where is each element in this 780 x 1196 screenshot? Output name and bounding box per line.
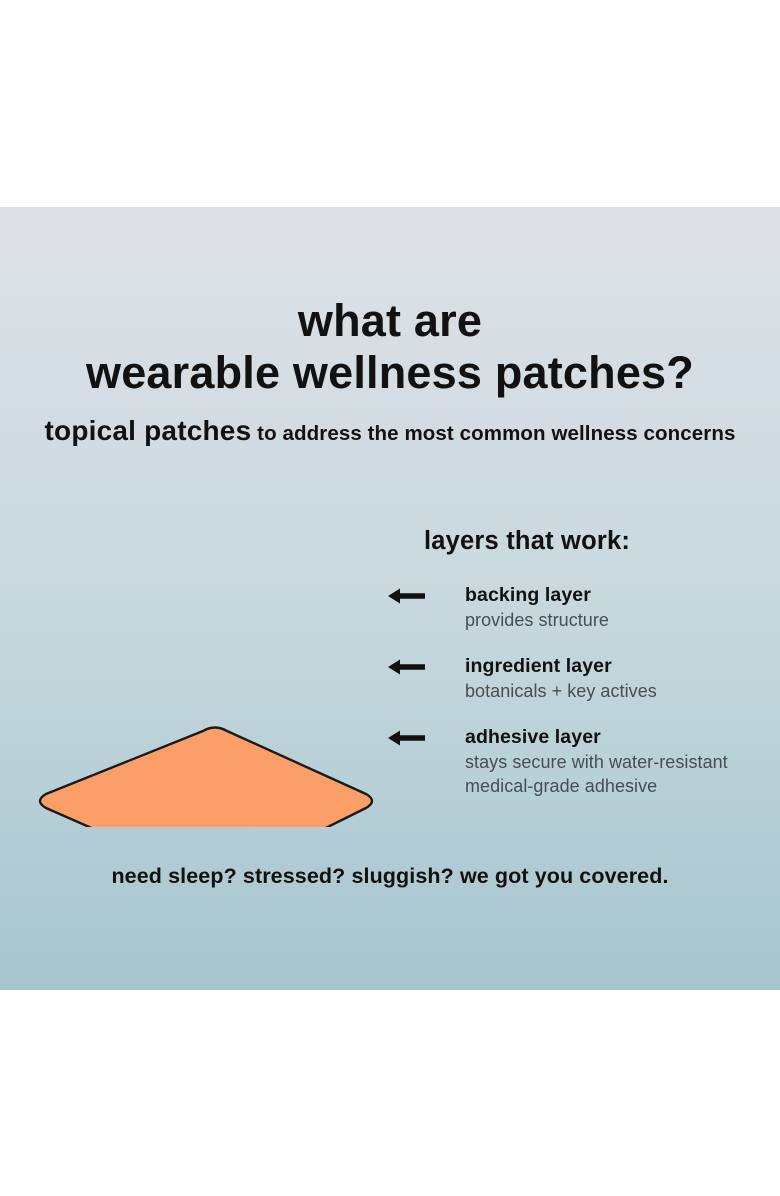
subtitle: topical patches to address the most comm… bbox=[0, 415, 780, 447]
layer-title-backing: backing layer bbox=[465, 583, 766, 607]
layers-list: layers that work: backing layer provides… bbox=[421, 527, 766, 798]
subtitle-strong: topical patches bbox=[45, 415, 252, 446]
layer-desc-adhesive-line-1: stays secure with water-resistant bbox=[465, 750, 766, 774]
gradient-panel: what are wearable wellness patches? topi… bbox=[0, 207, 780, 990]
backing-layer-shape bbox=[40, 728, 372, 828]
layer-desc-backing: provides structure bbox=[465, 608, 766, 632]
layer-desc-adhesive: stays secure with water-resistant medica… bbox=[465, 750, 766, 798]
layer-desc-ingredient-line-1: botanicals + key actives bbox=[465, 679, 766, 703]
layer-item-backing: backing layer provides structure bbox=[421, 583, 766, 632]
infographic-root: what are wearable wellness patches? topi… bbox=[0, 0, 780, 1196]
layer-item-ingredient: ingredient layer botanicals + key active… bbox=[421, 654, 766, 703]
headline-line-1: what are bbox=[0, 295, 780, 347]
layer-item-adhesive: adhesive layer stays secure with water-r… bbox=[421, 725, 766, 798]
layer-desc-backing-line-1: provides structure bbox=[465, 608, 766, 632]
layer-title-ingredient: ingredient layer bbox=[465, 654, 766, 678]
arrow-left-icon bbox=[388, 659, 426, 675]
arrow-left-icon bbox=[388, 730, 426, 746]
page-title: what are wearable wellness patches? bbox=[0, 295, 780, 399]
layer-desc-adhesive-line-2: medical-grade adhesive bbox=[465, 774, 766, 798]
layer-desc-ingredient: botanicals + key actives bbox=[465, 679, 766, 703]
layer-title-adhesive: adhesive layer bbox=[465, 725, 766, 749]
layers-heading: layers that work: bbox=[424, 527, 766, 556]
subtitle-normal: to address the most common wellness conc… bbox=[251, 422, 735, 445]
headline-line-2: wearable wellness patches? bbox=[0, 347, 780, 399]
tagline: need sleep? stressed? sluggish? we got y… bbox=[0, 864, 780, 889]
arrow-left-icon bbox=[388, 588, 426, 604]
